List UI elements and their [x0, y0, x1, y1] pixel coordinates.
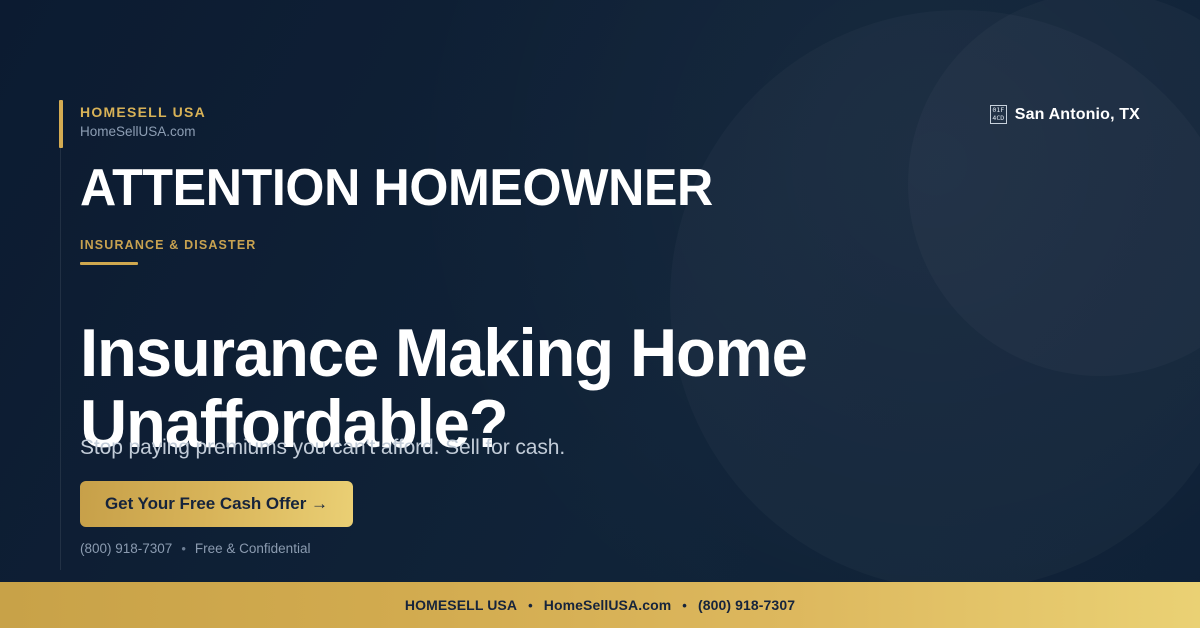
location-badge: 01F 4CD San Antonio, TX [990, 105, 1140, 124]
subheading: Stop paying premiums you can't afford. S… [80, 436, 565, 460]
footer-website[interactable]: HomeSellUSA.com [544, 597, 672, 613]
footer-bar: HOMESELL USA • HomeSellUSA.com • (800) 9… [0, 582, 1200, 628]
footer-separator-dot-2: • [682, 598, 687, 613]
get-free-cash-offer-button[interactable]: Get Your Free Cash Offer → [80, 481, 353, 527]
footnote-assurance: Free & Confidential [195, 541, 311, 556]
map-pin-icon: 01F 4CD [990, 105, 1007, 124]
ad-banner: HOMESELL USA HomeSellUSA.com 01F 4CD San… [0, 0, 1200, 628]
attention-heading: ATTENTION HOMEOWNER [80, 158, 713, 218]
footer-separator-dot-1: • [528, 598, 533, 613]
left-gold-accent-bar [59, 100, 63, 148]
brand-row: HOMESELL USA HomeSellUSA.com 01F 4CD San… [80, 104, 1140, 142]
footer-phone[interactable]: (800) 918-7307 [698, 597, 795, 613]
eyebrow-underline [80, 262, 138, 265]
footer-contact-strip: HOMESELL USA • HomeSellUSA.com • (800) 9… [405, 597, 795, 613]
location-label: San Antonio, TX [1015, 106, 1140, 124]
contact-footnote: (800) 918-7307 • Free & Confidential [80, 541, 310, 556]
category-eyebrow: INSURANCE & DISASTER [80, 238, 257, 252]
map-pin-icon-codepoint-lower: 4CD [992, 115, 1004, 123]
left-vertical-rule [60, 100, 61, 570]
footnote-separator-dot: • [181, 541, 186, 556]
footer-brand: HOMESELL USA [405, 597, 517, 613]
headline-line-1: Insurance Making Home [80, 318, 944, 389]
footnote-phone[interactable]: (800) 918-7307 [80, 541, 172, 556]
brand-website[interactable]: HomeSellUSA.com [80, 122, 206, 142]
brand-name: HOMESELL USA [80, 104, 206, 121]
brand-block: HOMESELL USA HomeSellUSA.com [80, 104, 206, 142]
banner-content: HOMESELL USA HomeSellUSA.com 01F 4CD San… [80, 0, 1140, 582]
